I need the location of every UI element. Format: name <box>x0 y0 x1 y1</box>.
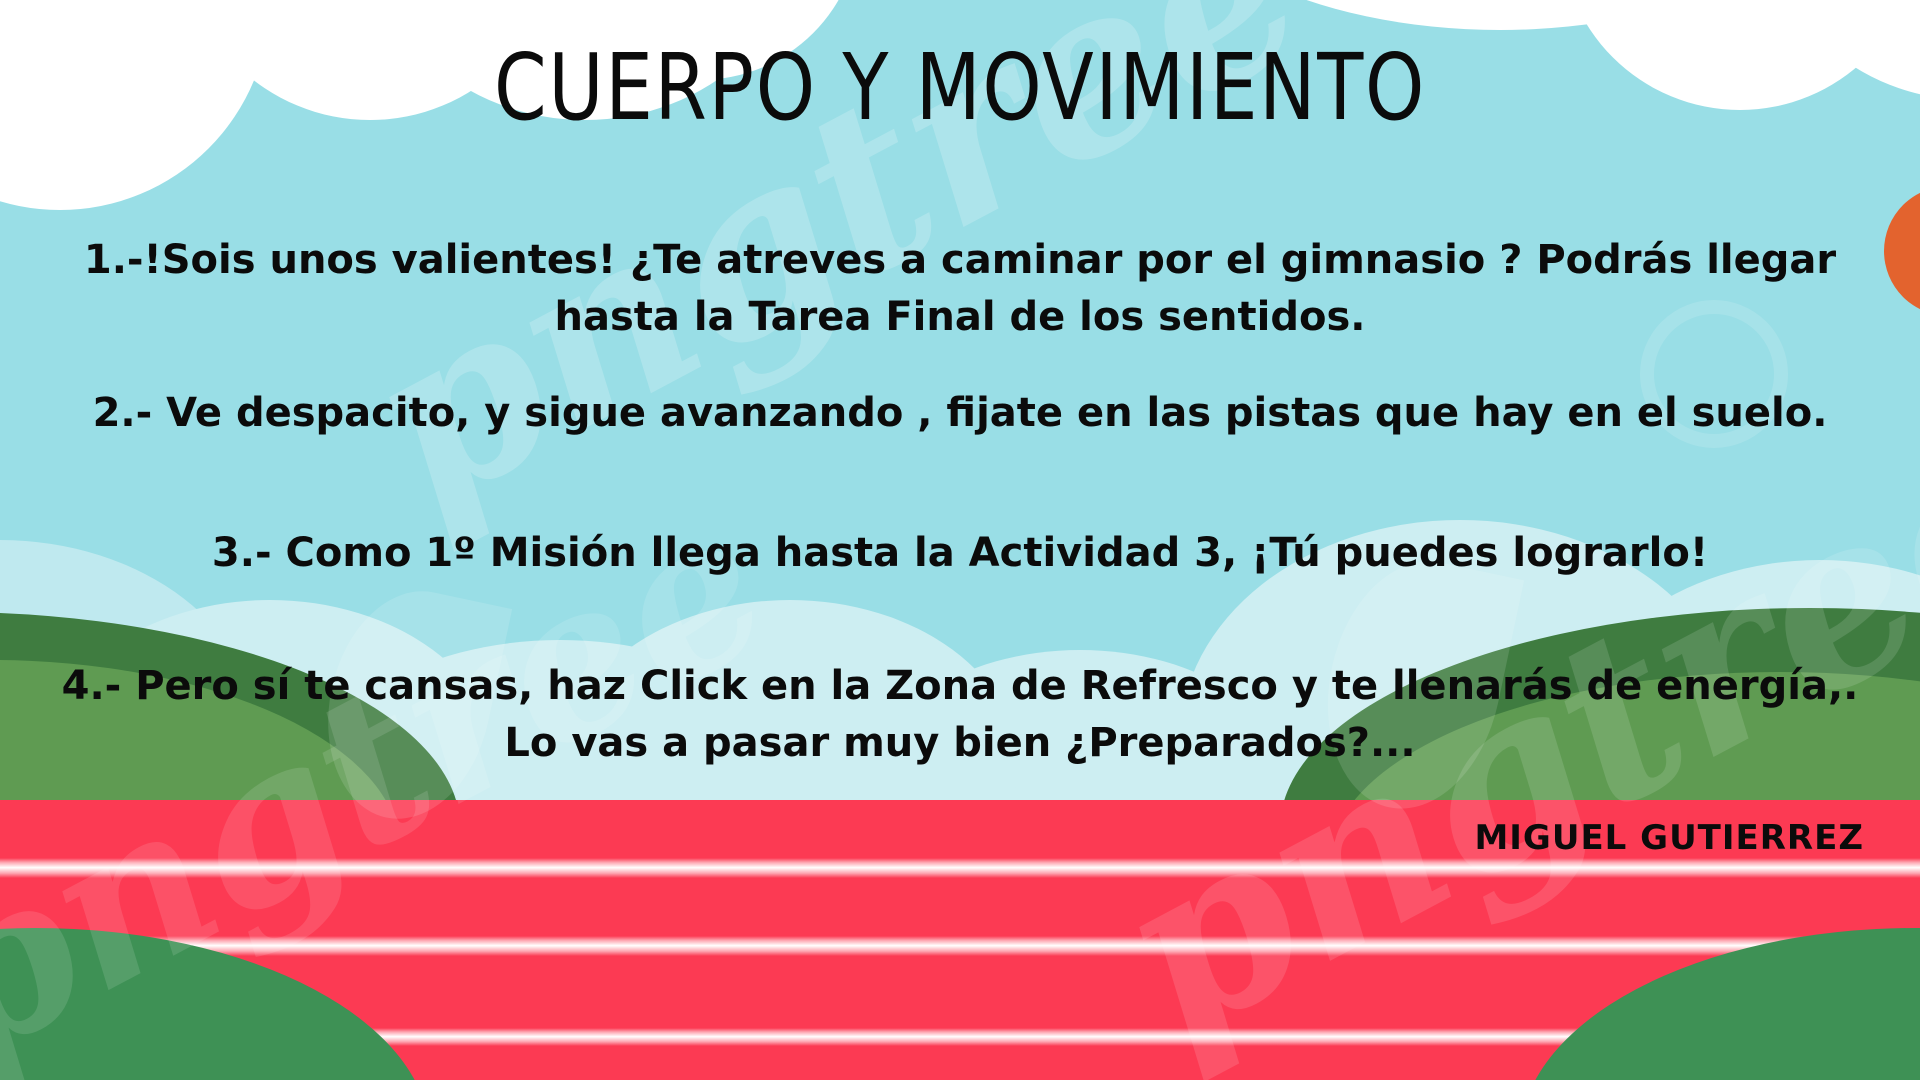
page-title: CUERPO Y MOVIMIENTO <box>173 42 1747 134</box>
slide-canvas: pngtree pngtree pngtree CUERPO Y MOVIMIE… <box>0 0 1920 1080</box>
instruction-paragraph-2: 2.- Ve despacito, y sigue avanzando , fi… <box>65 385 1855 442</box>
instruction-paragraph-4: 4.- Pero sí te cansas, haz Click en la Z… <box>45 658 1875 772</box>
instruction-paragraph-1: 1.-!Sois unos valientes! ¿Te atreves a c… <box>65 232 1855 346</box>
slide-content: CUERPO Y MOVIMIENTO 1.-!Sois unos valien… <box>0 0 1920 1080</box>
author-signature: MIGUEL GUTIERREZ <box>1474 818 1864 858</box>
instruction-paragraph-3: 3.- Como 1º Misión llega hasta la Activi… <box>65 525 1855 582</box>
